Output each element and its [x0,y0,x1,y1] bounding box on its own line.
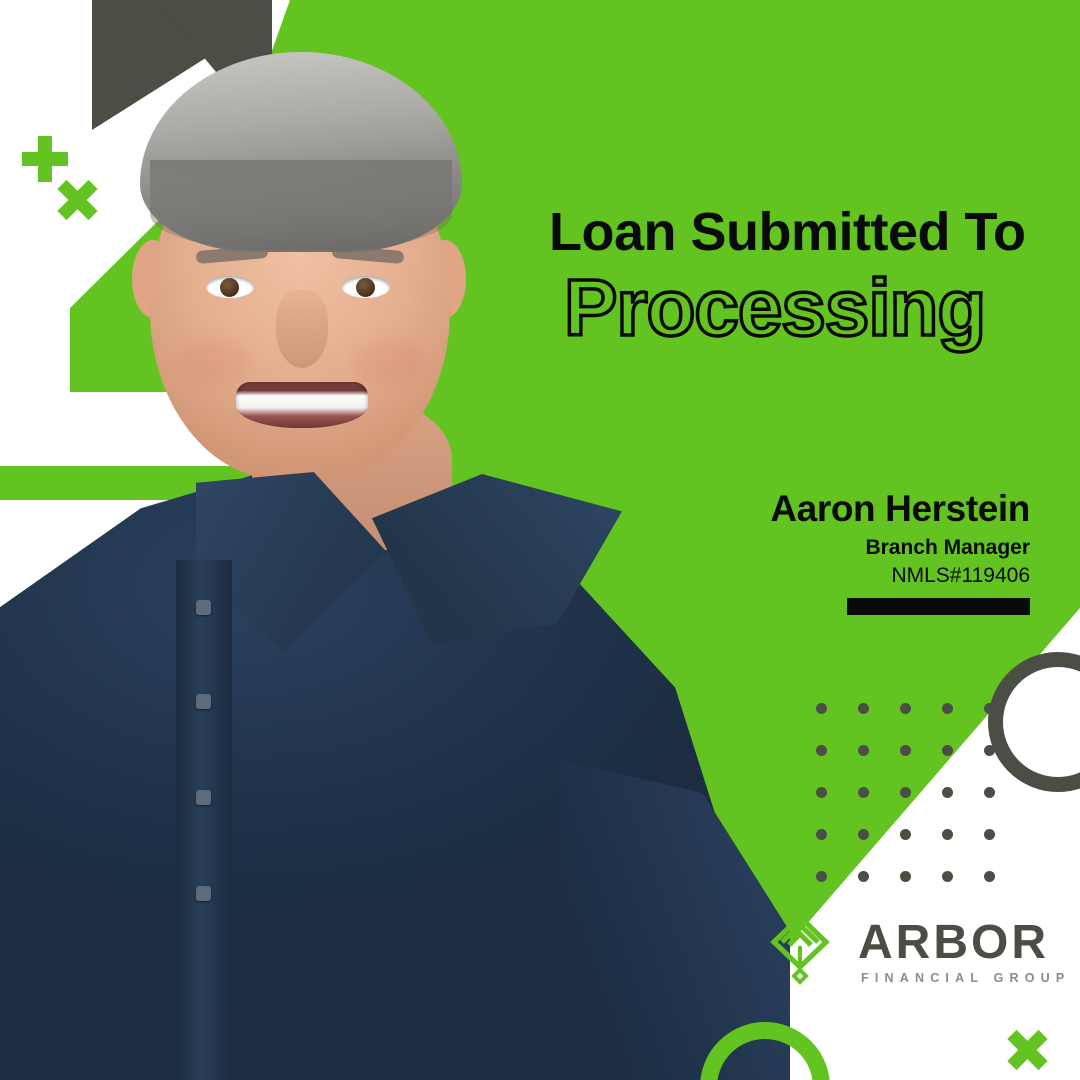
identity-underline-bar [847,598,1030,615]
arbor-logo-text: ARBOR FINANCIAL GROUP [858,912,1070,985]
portrait-shirt-placket [176,560,232,1080]
agent-nmls-number: NMLS#119406 [560,564,1030,588]
portrait-shirt-button [196,600,211,615]
portrait-shirt-button [196,694,211,709]
social-graphic-canvas: Loan Submitted To Processing Aaron Herst… [0,0,1080,1080]
x-icon [1008,1030,1048,1070]
x-icon [58,180,98,220]
portrait-cheek-left [180,340,250,384]
portrait-nose [276,290,328,368]
portrait-shirt-button [196,886,211,901]
logo-brand-name: ARBOR [858,920,1070,965]
logo-tagline: FINANCIAL GROUP [858,971,1070,985]
portrait-smile [236,382,368,428]
portrait-eye-right [342,276,390,298]
arbor-logo: ARBOR FINANCIAL GROUP [770,912,1070,986]
headline-line-2-outlined: Processing [564,268,1080,348]
plus-icon [22,136,68,182]
agent-title: Branch Manager [560,536,1030,560]
portrait-eye-left [206,276,254,298]
headline-line-1: Loan Submitted To [549,204,1049,260]
portrait-cheek-right [354,340,424,384]
green-horizontal-rule [0,466,268,482]
arbor-chevron-tree-mark-icon [770,912,844,986]
agent-name: Aaron Herstein [560,488,1030,530]
agent-identity-block: Aaron Herstein Branch Manager NMLS#11940… [560,488,1030,615]
portrait-shirt-button [196,790,211,805]
